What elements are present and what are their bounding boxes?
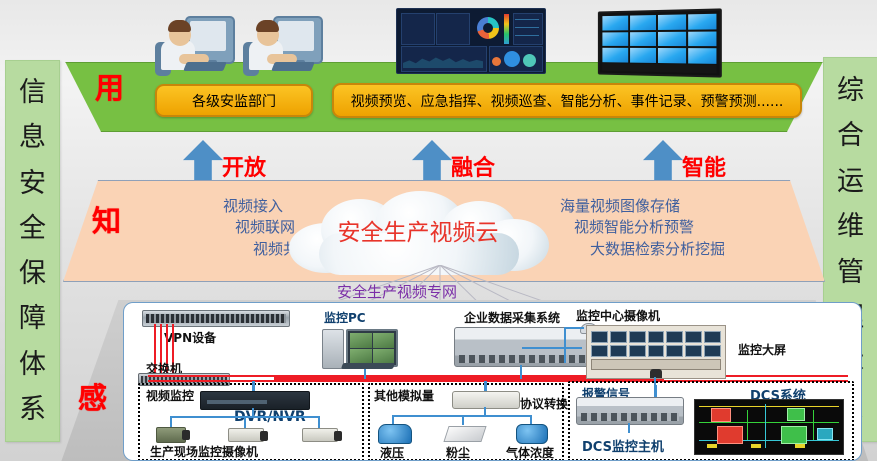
video-wall-icon bbox=[598, 8, 722, 77]
box-camera-icon-1 bbox=[228, 428, 264, 442]
platform-right-item-0: 海量视频图像存储 bbox=[560, 196, 790, 217]
blue-link-pc bbox=[364, 369, 366, 379]
blue-link-proto-down bbox=[484, 407, 486, 415]
pillar-information-security: 信 息 安 全 保 障 体 系 bbox=[5, 60, 60, 442]
sensor-label-2: 气体浓度 bbox=[506, 444, 554, 461]
operator-workstation-icon-2 bbox=[243, 10, 321, 78]
pillar-left-char-0: 信 bbox=[19, 79, 46, 106]
monitor-pc-keyboard-icon bbox=[341, 363, 395, 369]
pillar-right-char-3: 维 bbox=[837, 213, 864, 240]
monitor-pc-screen-icon bbox=[346, 329, 398, 367]
dcs-host-label: DCS监控主机 bbox=[582, 436, 664, 455]
pillar-right-char-2: 运 bbox=[837, 168, 864, 195]
operator-workstation-icon-1 bbox=[155, 10, 233, 78]
blue-link-camera-h bbox=[564, 327, 584, 329]
pillar-left-char-7: 系 bbox=[19, 396, 46, 423]
pillar-right-char-1: 合 bbox=[837, 122, 864, 149]
private-network-label: 安全生产视频专网 bbox=[337, 281, 457, 302]
monitor-pc-tower-icon bbox=[322, 329, 344, 369]
sensor-label-1: 粉尘 bbox=[446, 444, 470, 461]
pillar-left-char-2: 安 bbox=[19, 170, 46, 197]
group-analog-title: 其他模拟量 bbox=[374, 387, 434, 404]
big-screen-label: 监控大屏 bbox=[738, 341, 786, 358]
data-dashboard-icon bbox=[396, 8, 546, 74]
pillar-left-char-6: 体 bbox=[19, 351, 46, 378]
blue-link-cam-3 bbox=[318, 416, 320, 428]
blue-link-camera-v bbox=[564, 327, 566, 363]
hydraulic-sensor-icon bbox=[378, 424, 412, 444]
gas-sensor-icon bbox=[516, 424, 548, 444]
platform-left-item-0: 视频接入 bbox=[148, 196, 283, 217]
ptz-camera-icon bbox=[156, 427, 186, 443]
dvr-nvr-icon bbox=[200, 391, 310, 410]
enterprise-collect-label: 企业数据采集系统 bbox=[464, 309, 560, 326]
pillar-left-char-1: 息 bbox=[19, 124, 46, 151]
vpn-device-icon bbox=[142, 310, 290, 327]
platform-right-item-2: 大数据检索分析挖掘 bbox=[590, 239, 790, 260]
blue-link-dvr-up bbox=[252, 381, 255, 391]
blue-link-server bbox=[520, 365, 522, 379]
pillar-right-char-4: 管 bbox=[837, 259, 864, 286]
layer-tag-know: 知 bbox=[92, 198, 121, 240]
control-room-icon bbox=[586, 325, 726, 379]
pillar-right-char-0: 综 bbox=[837, 77, 864, 104]
protocol-converter-label: 协议转换 bbox=[520, 395, 568, 412]
sensor-label-0: 液压 bbox=[380, 444, 404, 461]
site-cameras-label: 生产现场监控摄像机 bbox=[150, 443, 258, 460]
infrastructure-panel: VPN设备 交换机 监控PC 企业数据采集系统 监控中心摄像机 bbox=[123, 302, 862, 461]
layer-tag-use: 用 bbox=[95, 65, 124, 107]
functions-box[interactable]: 视频预览、应急指挥、视频巡查、智能分析、事件记录、预警预测...... bbox=[332, 83, 802, 118]
platform-right-item-1: 视频智能分析预警 bbox=[574, 217, 790, 238]
protocol-converter-icon bbox=[452, 391, 520, 409]
platform-left-capabilities: 视频接入 视频联网 视频共享 bbox=[148, 196, 283, 260]
pillar-left-char-4: 保 bbox=[19, 260, 46, 287]
arrow-intelligent-label: 智能 bbox=[682, 150, 726, 182]
blue-link-cam-2 bbox=[244, 416, 246, 428]
arrow-converge-label: 融合 bbox=[451, 150, 495, 182]
dcs-host-icon bbox=[576, 397, 684, 425]
pillar-left-char-3: 全 bbox=[19, 215, 46, 242]
dept-box[interactable]: 各级安监部门 bbox=[155, 84, 313, 117]
blue-link-sensor-2 bbox=[462, 415, 464, 425]
box-camera-icon-2 bbox=[302, 428, 338, 442]
platform-left-item-1: 视频联网 bbox=[148, 217, 295, 238]
blue-link-dcs-down bbox=[628, 423, 630, 433]
blue-link-proto-up bbox=[484, 381, 487, 391]
blue-link-server-right bbox=[522, 347, 582, 349]
cloud-title: 安全生产视频云 bbox=[283, 213, 553, 247]
layer-tag-sense: 感 bbox=[78, 375, 107, 417]
dcs-hmi-screen-icon bbox=[694, 399, 844, 455]
architecture-diagram: 信 息 安 全 保 障 体 系 综 合 运 维 管 理 体 系 bbox=[0, 0, 877, 461]
blue-link-dvr-down bbox=[252, 408, 254, 416]
dust-sensor-icon bbox=[443, 426, 486, 442]
arrow-open-label: 开放 bbox=[222, 150, 266, 182]
center-camera-label: 监控中心摄像机 bbox=[576, 307, 660, 324]
pillar-left-char-5: 障 bbox=[19, 305, 46, 332]
group-video-title: 视频监控 bbox=[146, 387, 194, 404]
monitor-pc-label: 监控PC bbox=[324, 309, 366, 326]
platform-right-capabilities: 海量视频图像存储 视频智能分析预警 大数据检索分析挖掘 bbox=[560, 196, 790, 260]
blue-link-dcs-up bbox=[654, 385, 657, 397]
